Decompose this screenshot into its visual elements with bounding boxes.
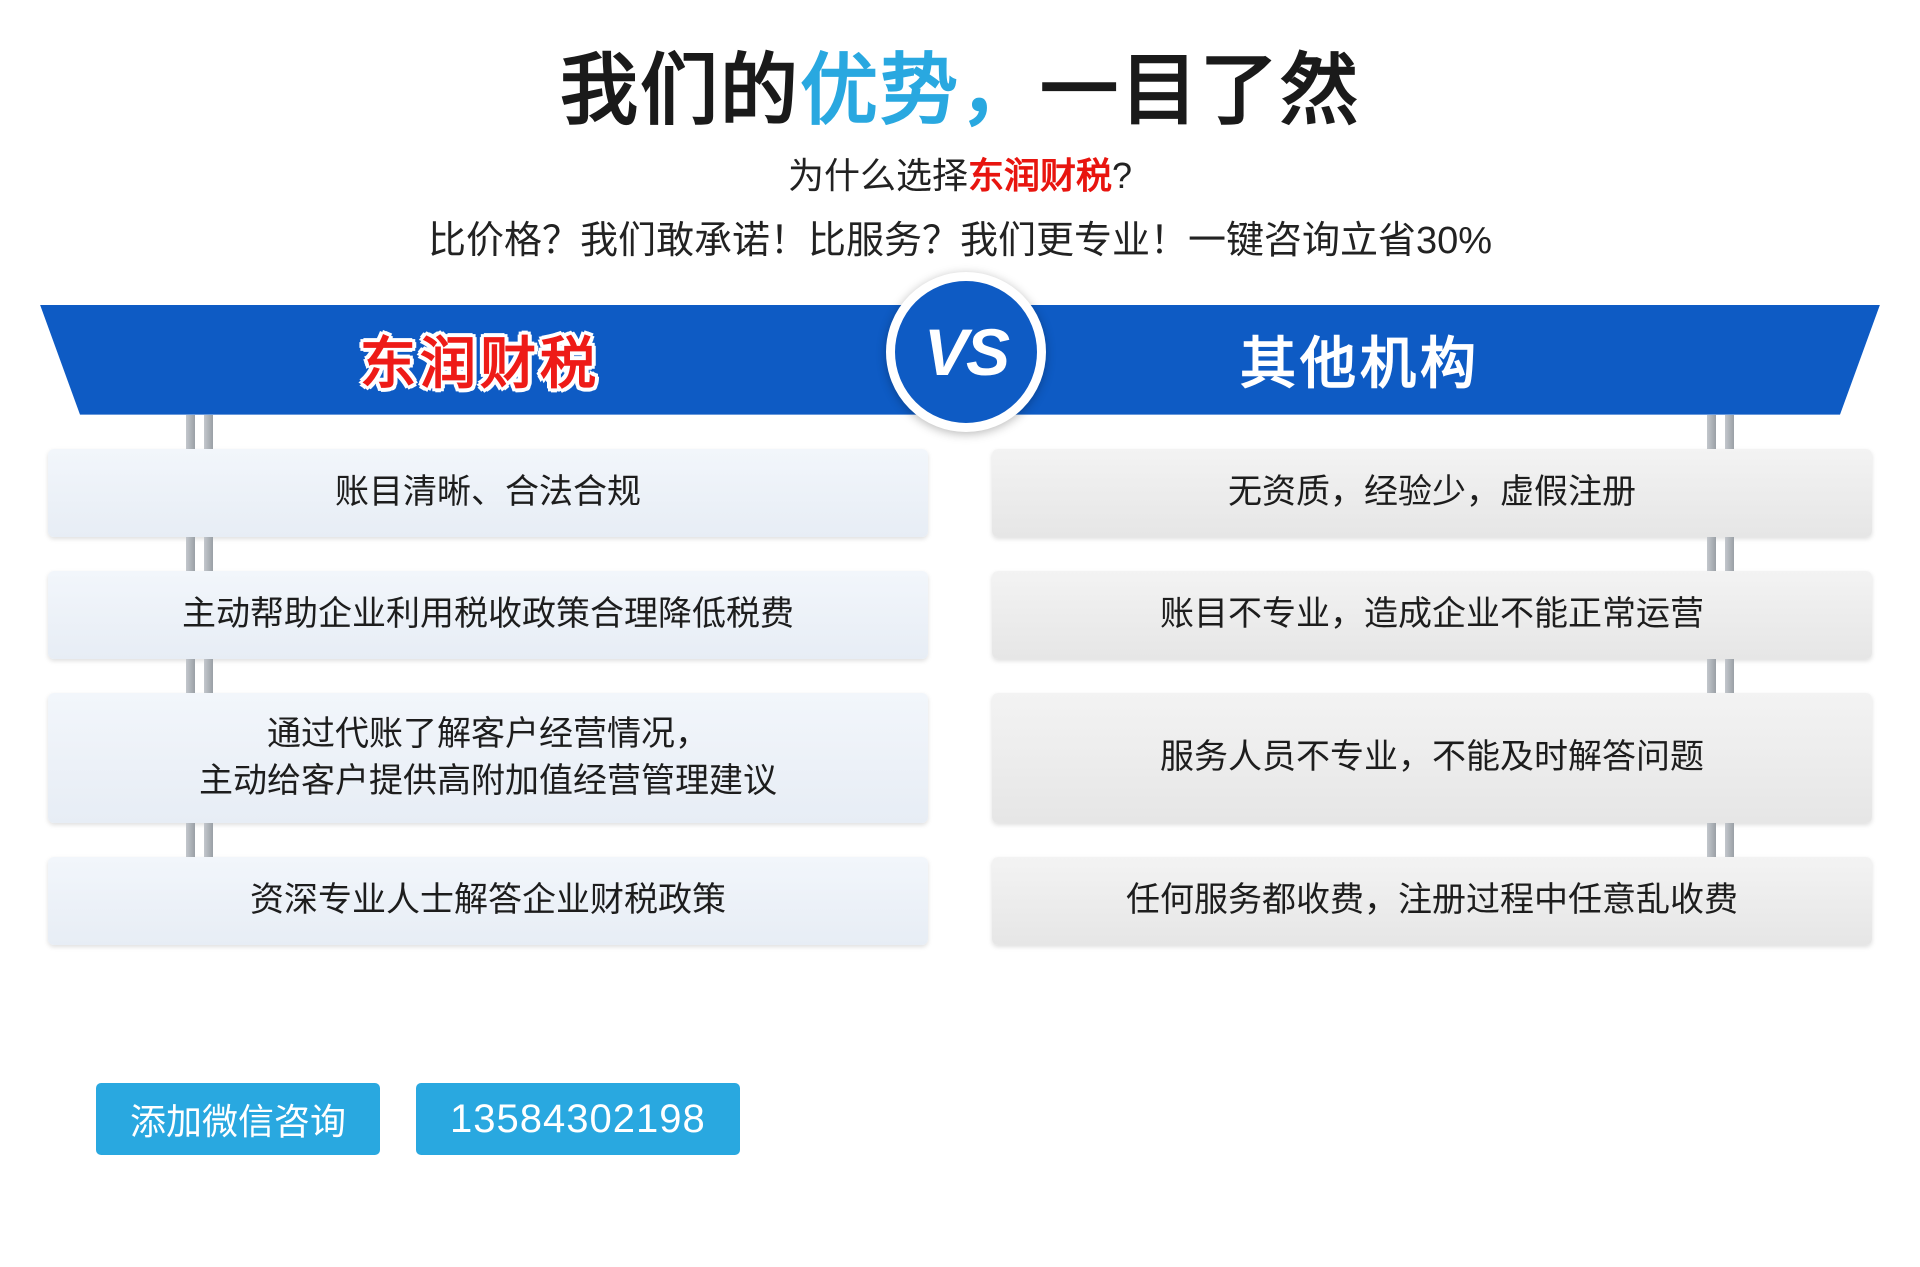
phone-number-button[interactable]: 13584302198 (416, 1083, 740, 1155)
banner-label-ours: 东润财税 (200, 305, 760, 415)
list-item: 资深专业人士解答企业财税政策 (48, 857, 928, 945)
vs-badge: VS (886, 272, 1046, 432)
title-part-1: 我们的 (560, 46, 800, 134)
vs-label: VS (924, 319, 1008, 385)
title-part-2: 一目了然 (1040, 46, 1360, 134)
connector (992, 415, 1872, 449)
page-title: 我们的优势，一目了然 (0, 50, 1920, 132)
list-item: 账目不专业，造成企业不能正常运营 (992, 571, 1872, 659)
infographic-page: 我们的优势，一目了然 为什么选择东润财税? 比价格？我们敢承诺！比服务？我们更专… (0, 0, 1920, 1267)
column-others: 无资质，经验少，虚假注册 账目不专业，造成企业不能正常运营 服务人员不专业，不能… (992, 415, 1872, 945)
vs-banner: 东润财税 其他机构 VS (0, 305, 1920, 415)
title-accent: 优势， (800, 46, 1040, 134)
add-wechat-button[interactable]: 添加微信咨询 (96, 1083, 380, 1155)
list-item: 无资质，经验少，虚假注册 (992, 449, 1872, 537)
subtitle-question: 为什么选择东润财税? (0, 154, 1920, 197)
list-item: 主动帮助企业利用税收政策合理降低税费 (48, 571, 928, 659)
subtitle-suffix: ? (1112, 155, 1132, 196)
banner-label-others: 其他机构 (1080, 305, 1640, 415)
list-item: 账目清晰、合法合规 (48, 449, 928, 537)
subtitle-prefix: 为什么选择 (788, 155, 968, 196)
header-block: 我们的优势，一目了然 为什么选择东润财税? 比价格？我们敢承诺！比服务？我们更专… (0, 0, 1920, 265)
subtitle-pitch: 比价格？我们敢承诺！比服务？我们更专业！一键咨询立省30% (0, 219, 1920, 265)
connector (992, 823, 1872, 857)
column-ours: 账目清晰、合法合规 主动帮助企业利用税收政策合理降低税费 通过代账了解客户经营情… (48, 415, 928, 945)
list-item: 服务人员不专业，不能及时解答问题 (992, 693, 1872, 823)
list-item: 任何服务都收费，注册过程中任意乱收费 (992, 857, 1872, 945)
connector (48, 823, 928, 857)
connector (48, 659, 928, 693)
brand-name: 东润财税 (968, 155, 1112, 196)
comparison-columns: 账目清晰、合法合规 主动帮助企业利用税收政策合理降低税费 通过代账了解客户经营情… (0, 415, 1920, 945)
connector (48, 415, 928, 449)
list-item: 通过代账了解客户经营情况， 主动给客户提供高附加值经营管理建议 (48, 693, 928, 823)
cta-row: 添加微信咨询 13584302198 (96, 1083, 740, 1155)
connector (992, 659, 1872, 693)
connector (48, 537, 928, 571)
connector (992, 537, 1872, 571)
